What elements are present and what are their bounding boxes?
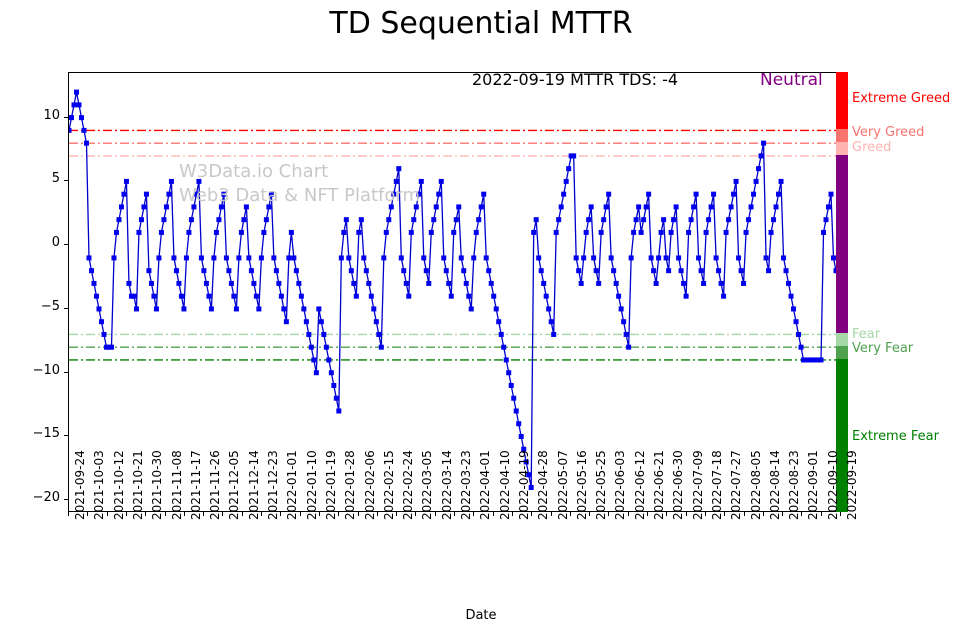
x-tick-label-7: 2021-11-26 (208, 450, 222, 520)
y-tick-mark (64, 117, 68, 118)
zone-label-fear: Fear (852, 327, 880, 342)
x-tick-mark (705, 512, 706, 516)
x-tick-label-1: 2021-10-03 (92, 450, 106, 520)
x-tick-mark (531, 512, 532, 516)
x-tick-label-30: 2022-06-21 (652, 450, 666, 520)
x-tick-mark (666, 512, 667, 516)
x-axis-label: Date (0, 608, 962, 623)
x-tick-mark (473, 512, 474, 516)
x-tick-mark (126, 512, 127, 516)
x-tick-label-31: 2022-06-30 (671, 450, 685, 520)
x-tick-label-14: 2022-01-28 (343, 450, 357, 520)
x-tick-mark (222, 512, 223, 516)
x-tick-label-5: 2021-11-08 (170, 450, 184, 520)
zone-label-extreme-greed: Extreme Greed (852, 91, 950, 106)
x-tick-mark (242, 512, 243, 516)
x-tick-label-36: 2022-08-14 (768, 450, 782, 520)
x-tick-mark (589, 512, 590, 516)
x-tick-label-10: 2021-12-23 (266, 450, 280, 520)
y-tick-label-6: −20 (16, 490, 60, 505)
x-tick-label-12: 2022-01-10 (305, 450, 319, 520)
x-tick-mark (165, 512, 166, 516)
y-tick-label-4: −10 (16, 363, 60, 378)
x-tick-label-20: 2022-03-23 (459, 450, 473, 520)
x-tick-label-23: 2022-04-19 (517, 450, 531, 520)
y-tick-label-0: 10 (16, 108, 60, 123)
x-tick-label-13: 2022-01-19 (324, 450, 338, 520)
data-series-line (69, 92, 840, 487)
x-tick-label-15: 2022-02-06 (363, 450, 377, 520)
x-tick-mark (570, 512, 571, 516)
x-tick-label-4: 2021-10-30 (150, 450, 164, 520)
x-tick-label-11: 2022-01-01 (285, 450, 299, 520)
zone-label-very-fear: Very Fear (852, 341, 913, 356)
x-tick-label-33: 2022-07-18 (710, 450, 724, 520)
x-tick-mark (744, 512, 745, 516)
x-tick-mark (628, 512, 629, 516)
x-tick-mark (377, 512, 378, 516)
x-tick-mark (454, 512, 455, 516)
x-tick-mark (763, 512, 764, 516)
x-tick-label-19: 2022-03-14 (440, 450, 454, 520)
x-tick-label-37: 2022-08-23 (787, 450, 801, 520)
x-tick-mark (647, 512, 648, 516)
x-tick-label-38: 2022-09-01 (806, 450, 820, 520)
color-bar-segment-very-greed (836, 129, 848, 142)
plot-area: W3Data.io Chart Web3 Data & NFT Platform (68, 72, 840, 512)
x-tick-mark (87, 512, 88, 516)
color-bar-segment-fear (836, 333, 848, 346)
x-tick-mark (493, 512, 494, 516)
x-tick-label-34: 2022-07-27 (729, 450, 743, 520)
x-tick-label-26: 2022-05-16 (575, 450, 589, 520)
x-tick-mark (801, 512, 802, 516)
watermark-line-1: W3Data.io Chart (179, 161, 328, 182)
x-tick-mark (107, 512, 108, 516)
x-tick-label-17: 2022-02-24 (401, 450, 415, 520)
x-tick-mark (319, 512, 320, 516)
x-tick-label-35: 2022-08-05 (749, 450, 763, 520)
x-tick-mark (512, 512, 513, 516)
plot-svg (69, 73, 840, 512)
x-tick-label-16: 2022-02-15 (382, 450, 396, 520)
x-tick-label-22: 2022-04-10 (498, 450, 512, 520)
y-tick-label-5: −15 (16, 426, 60, 441)
color-bar-segment-very-fear (836, 346, 848, 359)
x-tick-mark (261, 512, 262, 516)
chart-root: TD Sequential MTTR 2022-09-19 MTTR TDS: … (0, 0, 962, 633)
x-tick-mark (300, 512, 301, 516)
x-tick-label-25: 2022-05-07 (556, 450, 570, 520)
color-bar-segment-neutral (836, 155, 848, 334)
x-tick-label-28: 2022-06-03 (613, 450, 627, 520)
y-tick-mark (64, 499, 68, 500)
x-tick-label-18: 2022-03-05 (420, 450, 434, 520)
x-tick-mark (435, 512, 436, 516)
x-tick-mark (782, 512, 783, 516)
x-tick-label-29: 2022-06-12 (633, 450, 647, 520)
x-tick-label-9: 2021-12-14 (247, 450, 261, 520)
y-tick-label-3: −5 (16, 299, 60, 314)
zone-label-very-greed: Very Greed (852, 125, 924, 140)
y-tick-mark (64, 180, 68, 181)
x-tick-mark (551, 512, 552, 516)
x-tick-mark (68, 512, 69, 516)
x-tick-mark (415, 512, 416, 516)
x-tick-mark (358, 512, 359, 516)
x-tick-label-3: 2021-10-21 (131, 450, 145, 520)
y-tick-mark (64, 372, 68, 373)
y-tick-mark (64, 244, 68, 245)
x-tick-label-40: 2022-09-19 (845, 450, 859, 520)
sentiment-color-bar (836, 72, 848, 512)
x-tick-mark (686, 512, 687, 516)
x-tick-mark (724, 512, 725, 516)
watermark-line-2: Web3 Data & NFT Platform (179, 185, 420, 206)
x-tick-label-39: 2022-09-10 (826, 450, 840, 520)
x-tick-mark (396, 512, 397, 516)
y-tick-label-2: 0 (16, 235, 60, 250)
x-tick-label-8: 2021-12-05 (227, 450, 241, 520)
x-tick-label-21: 2022-04-01 (478, 450, 492, 520)
x-tick-label-27: 2022-05-25 (594, 450, 608, 520)
y-tick-label-1: 5 (16, 171, 60, 186)
x-tick-label-24: 2022-04-28 (536, 450, 550, 520)
x-tick-mark (338, 512, 339, 516)
x-tick-mark (184, 512, 185, 516)
x-tick-label-32: 2022-07-09 (691, 450, 705, 520)
color-bar-segment-greed (836, 142, 848, 155)
zone-label-extreme-fear: Extreme Fear (852, 429, 939, 444)
chart-title: TD Sequential MTTR (0, 6, 962, 41)
x-tick-mark (608, 512, 609, 516)
x-tick-mark (280, 512, 281, 516)
x-tick-label-2: 2021-10-12 (112, 450, 126, 520)
x-tick-label-0: 2021-09-24 (73, 450, 87, 520)
zone-label-greed: Greed (852, 140, 891, 155)
x-tick-mark (203, 512, 204, 516)
y-tick-mark (64, 308, 68, 309)
x-tick-mark (821, 512, 822, 516)
x-tick-label-6: 2021-11-17 (189, 450, 203, 520)
x-tick-mark (840, 512, 841, 516)
y-tick-mark (64, 435, 68, 436)
x-tick-mark (145, 512, 146, 516)
color-bar-segment-extreme-greed (836, 72, 848, 129)
